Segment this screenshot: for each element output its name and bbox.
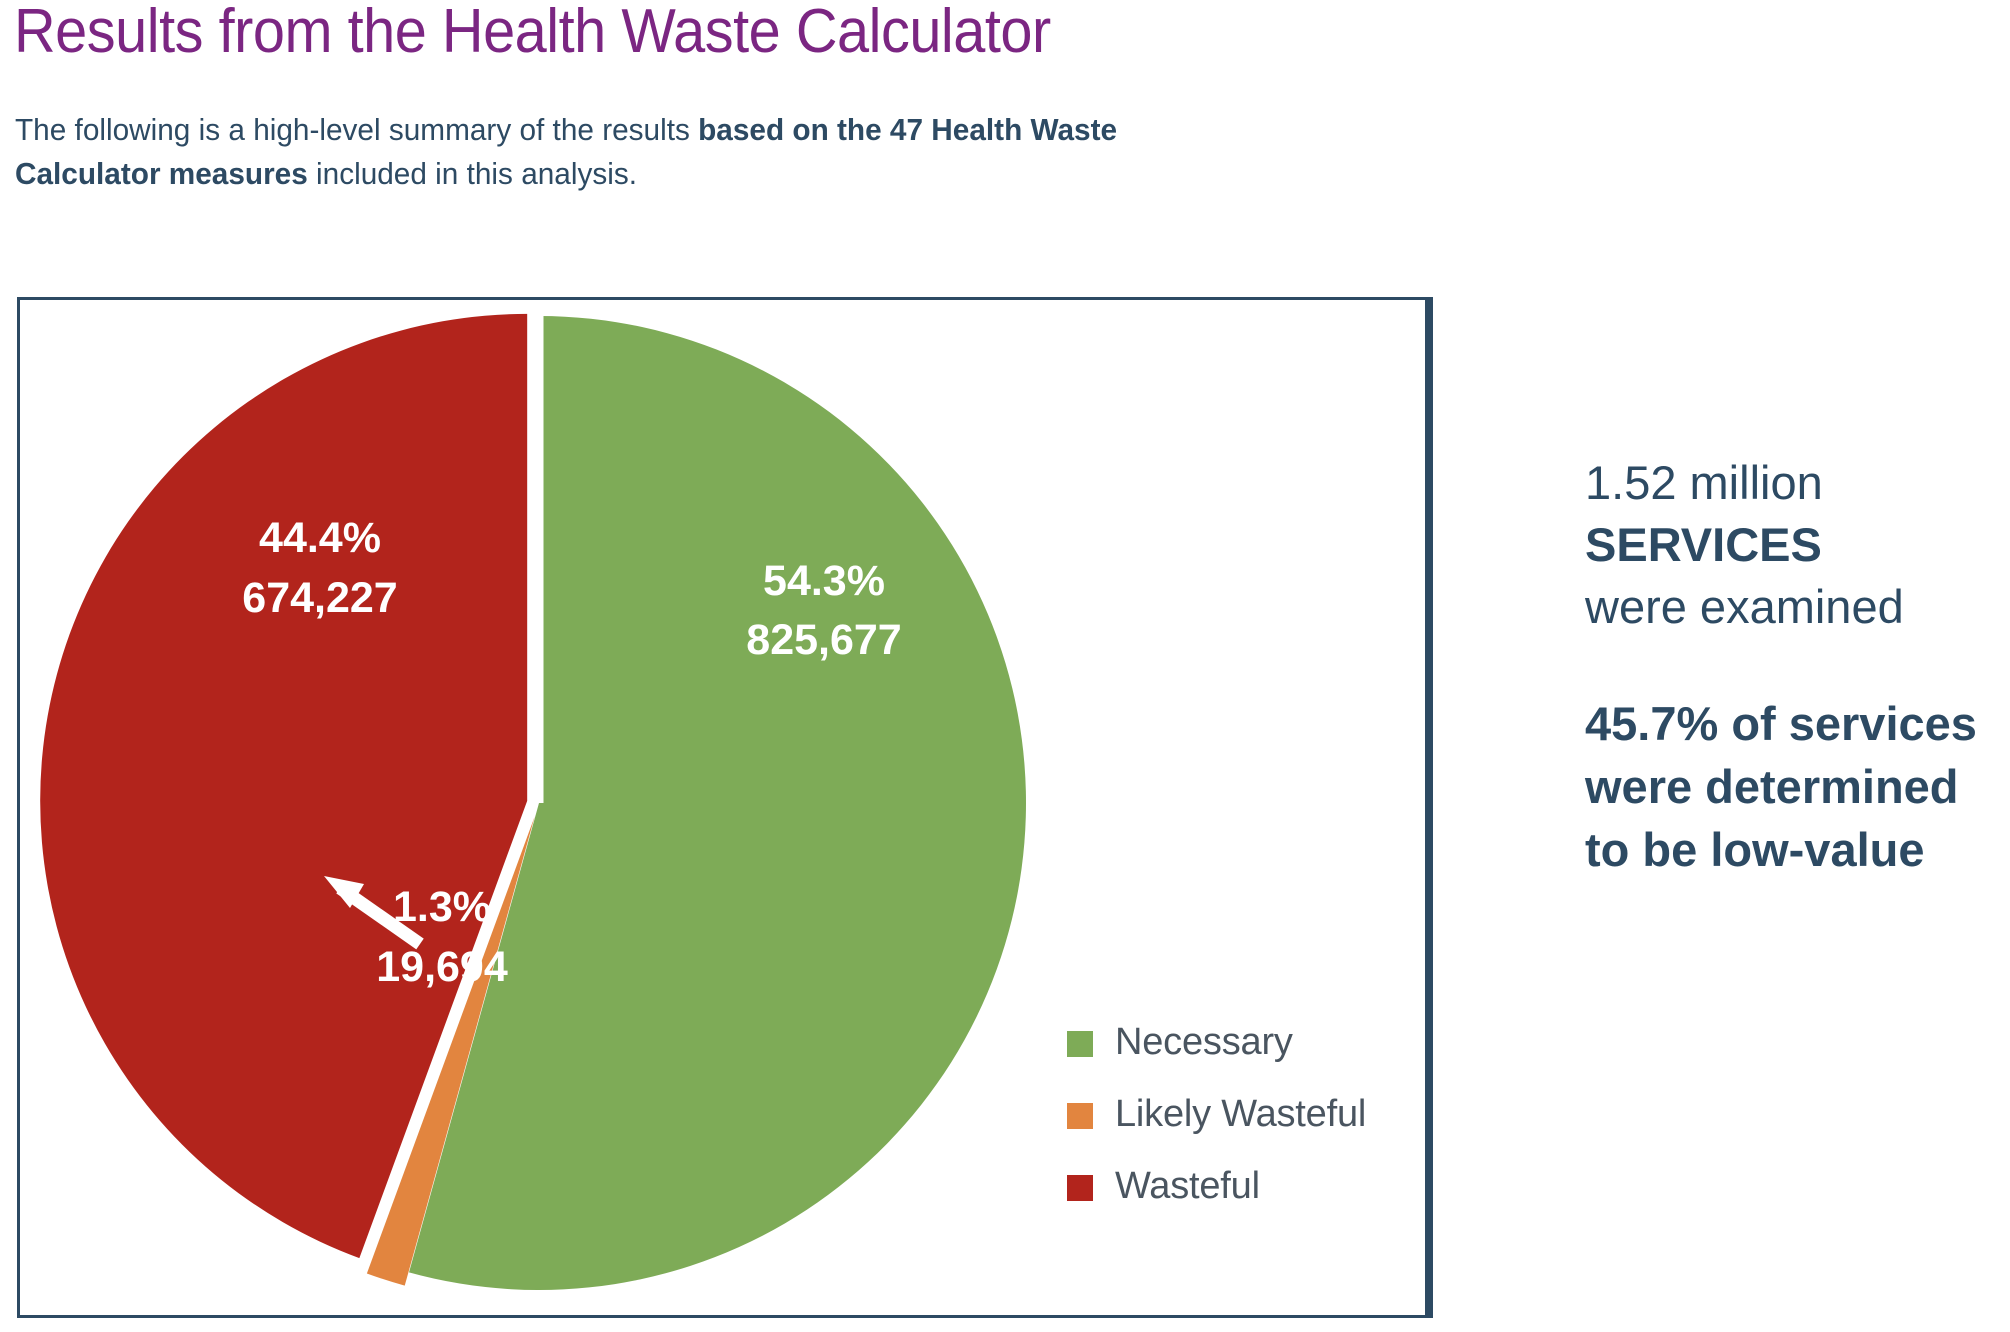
legend-swatch-likely-wasteful (1067, 1103, 1093, 1129)
pie-label-likely-wasteful-value: 19,694 (376, 943, 508, 991)
stat1-line3: were examined (1585, 576, 2005, 638)
legend-label-necessary: Necessary (1115, 1021, 1293, 1064)
stat2-line1: 45.7% of services (1585, 693, 2005, 756)
pie-label-wasteful-value: 674,227 (242, 574, 397, 622)
stat2-line3: to be low-value (1585, 819, 2005, 882)
stat-services-examined: 1.52 million SERVICES were examined (1585, 452, 2005, 638)
subtitle-part-1: The following is a high-level summary of… (15, 112, 698, 147)
chart-legend: Necessary Likely Wasteful Wasteful (1067, 1006, 1397, 1222)
stat1-line2: SERVICES (1585, 514, 2005, 576)
legend-label-likely-wasteful: Likely Wasteful (1115, 1093, 1366, 1136)
page-title: Results from the Health Waste Calculator (14, 0, 1051, 67)
subtitle: The following is a high-level summary of… (15, 108, 1148, 196)
pie-label-necessary-percent: 54.3% (763, 557, 885, 605)
legend-swatch-wasteful (1067, 1175, 1093, 1201)
chart-frame: 44.4% 674,227 54.3% 825,677 1.3% 19,694 … (17, 297, 1428, 1318)
legend-label-wasteful: Wasteful (1115, 1165, 1260, 1208)
summary-panel: 1.52 million SERVICES were examined 45.7… (1428, 297, 1988, 1318)
legend-swatch-necessary (1067, 1031, 1093, 1057)
stat1-line1: 1.52 million (1585, 452, 2005, 514)
pie-label-necessary-value: 825,677 (746, 616, 901, 664)
pie-label-likely-wasteful-percent: 1.3% (393, 883, 491, 931)
subtitle-part-3: included in this analysis. (308, 156, 637, 191)
legend-item-likely-wasteful[interactable]: Likely Wasteful (1067, 1078, 1397, 1150)
stat-low-value-share: 45.7% of services were determined to be … (1585, 693, 2005, 882)
stat2-line2: were determined (1585, 756, 2005, 819)
legend-item-wasteful[interactable]: Wasteful (1067, 1150, 1397, 1222)
legend-item-necessary[interactable]: Necessary (1067, 1006, 1397, 1078)
pie-label-wasteful-percent: 44.4% (259, 514, 381, 562)
